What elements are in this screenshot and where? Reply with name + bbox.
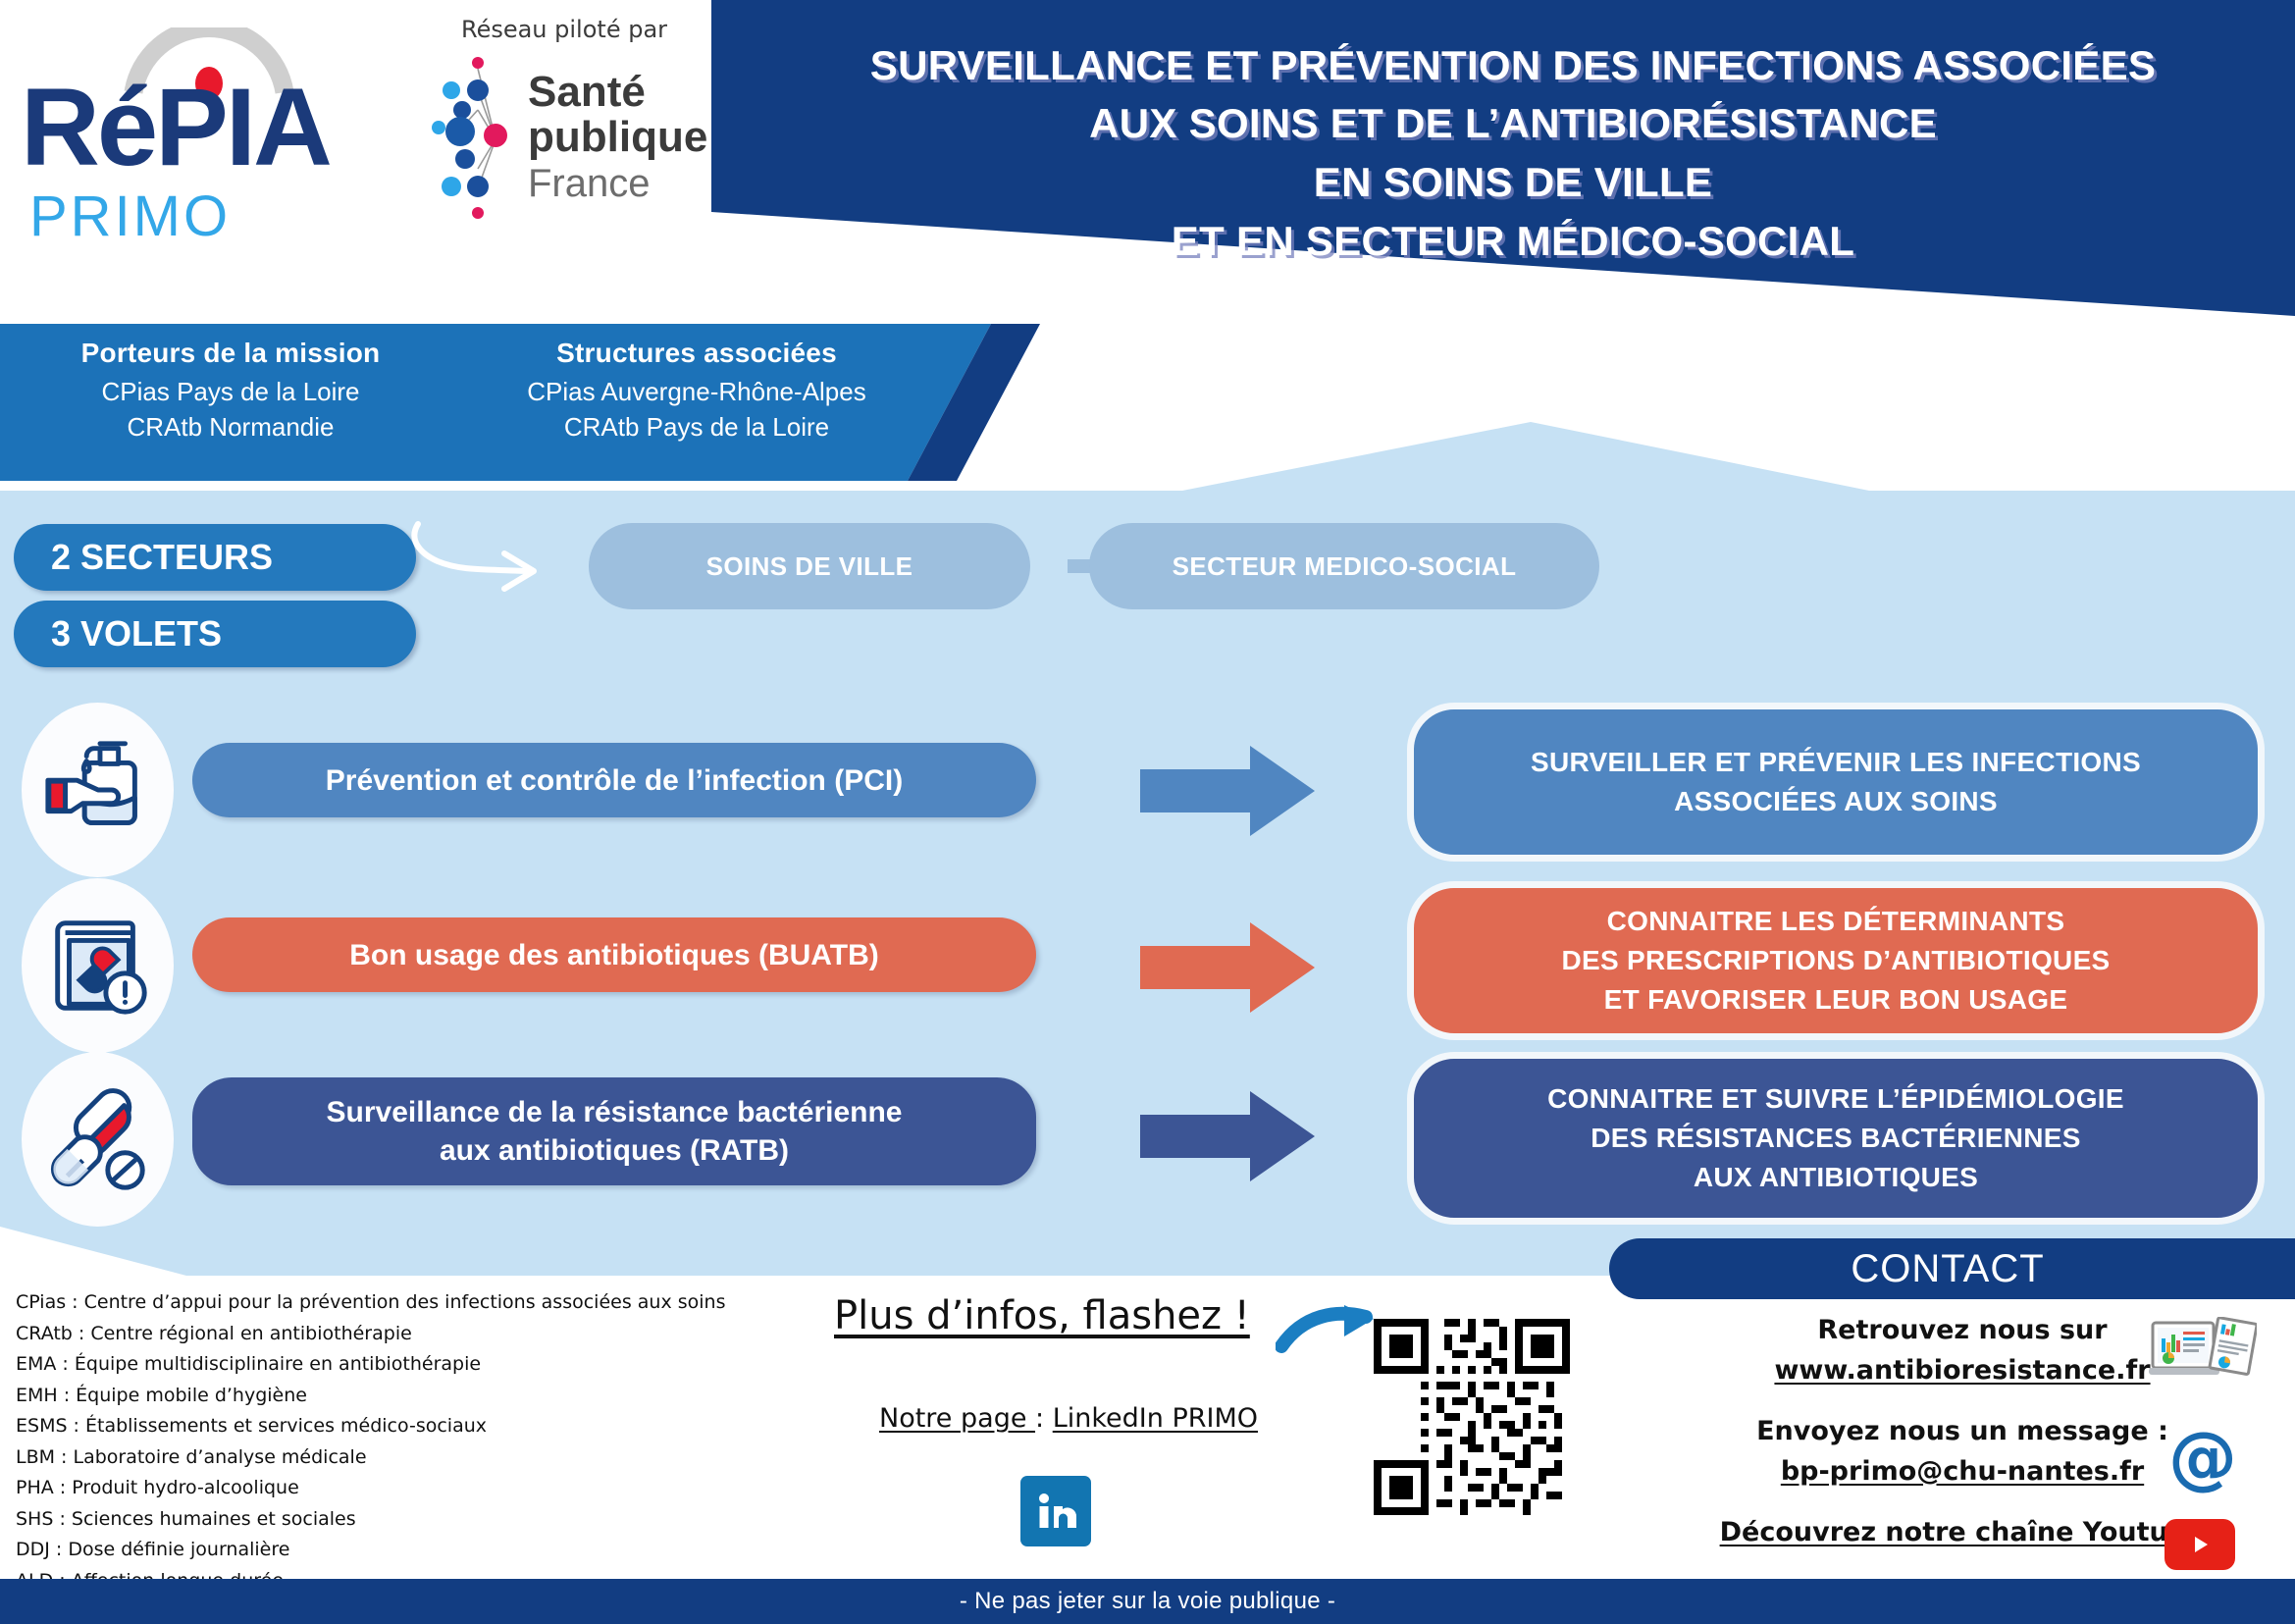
glossary-item: PHA : Produit hydro-alcoolique xyxy=(16,1473,801,1504)
glossary-item: ESMS : Établissements et services médico… xyxy=(16,1411,801,1442)
porteurs-heading: Porteurs de la mission xyxy=(0,338,461,369)
svg-text:PRIMO: PRIMO xyxy=(29,184,231,248)
objective-line: ASSOCIÉES AUX SOINS xyxy=(1531,782,2141,821)
linkedin-icon[interactable] xyxy=(1020,1476,1091,1546)
linkedin-page-link[interactable]: LinkedIn PRIMO xyxy=(1053,1403,1258,1434)
arrow-right-icon-pci xyxy=(1140,742,1317,840)
porteurs-item: CPias Pays de la Loire xyxy=(0,375,461,410)
objective-line: ET FAVORISER LEUR BON USAGE xyxy=(1561,980,2110,1020)
flashez-heading: Plus d’infos, flashez ! xyxy=(834,1293,1250,1338)
notre-page-sep: : xyxy=(1035,1403,1053,1434)
poster-root: RéPIA PRIMO Réseau piloté par xyxy=(0,0,2295,1624)
tag-2-secteurs: 2 SECTEURS xyxy=(14,524,416,591)
svg-text:RéPIA: RéPIA xyxy=(21,66,330,188)
porteurs-band: Porteurs de la mission CPias Pays de la … xyxy=(0,324,981,481)
qr-code[interactable] xyxy=(1374,1319,1570,1515)
porteurs-column: Porteurs de la mission CPias Pays de la … xyxy=(0,324,461,481)
secteur-soins-de-ville: SOINS DE VILLE xyxy=(589,523,1030,609)
youtube-play-icon[interactable] xyxy=(2165,1519,2235,1570)
glossary-item: EMH : Équipe mobile d’hygiène xyxy=(16,1381,801,1412)
volet-label-line: Surveillance de la résistance bactérienn… xyxy=(327,1093,903,1131)
secteur-medico-social: SECTEUR MEDICO-SOCIAL xyxy=(1089,523,1599,609)
reseau-pilote-label: Réseau piloté par xyxy=(422,16,706,43)
tag-3-volets: 3 VOLETS xyxy=(14,601,416,667)
svg-text:France: France xyxy=(528,162,651,205)
contact-heading: CONTACT xyxy=(1609,1238,2295,1299)
objective-pci: SURVEILLER ET PRÉVENIR LES INFECTIONS AS… xyxy=(1407,703,2265,862)
objective-line: CONNAITRE LES DÉTERMINANTS xyxy=(1561,902,2110,941)
objective-line: CONNAITRE ET SUIVRE L’ÉPIDÉMIOLOGIE xyxy=(1547,1079,2124,1119)
volet-label-line: aux antibiotiques (RATB) xyxy=(327,1131,903,1170)
structures-item: CRAtb Pays de la Loire xyxy=(461,410,932,445)
screens-dashboard-icon xyxy=(2149,1317,2257,1401)
structures-item: CPias Auvergne-Rhône-Alpes xyxy=(461,375,932,410)
glossary-item: LBM : Laboratoire d’analyse médicale xyxy=(16,1442,801,1474)
curved-arrow-to-qr-icon xyxy=(1276,1303,1383,1372)
glossary-item: CPias : Centre d’appui pour la préventio… xyxy=(16,1287,801,1319)
volet-label-pci: Prévention et contrôle de l’infection (P… xyxy=(192,743,1036,817)
objective-line: DES PRESCRIPTIONS D’ANTIBIOTIQUES xyxy=(1561,941,2110,980)
structures-heading: Structures associées xyxy=(461,338,932,369)
objective-buatb: CONNAITRE LES DÉTERMINANTS DES PRESCRIPT… xyxy=(1407,881,2265,1040)
curved-arrow-icon xyxy=(410,510,606,618)
more-info-block: Plus d’infos, flashez ! Notre page : Lin… xyxy=(824,1293,1590,1588)
pills-icon xyxy=(22,1052,174,1227)
volet-label-ratb: Surveillance de la résistance bactérienn… xyxy=(192,1077,1036,1185)
volet-label-buatb: Bon usage des antibiotiques (BUATB) xyxy=(192,917,1036,992)
svg-text:publique: publique xyxy=(528,113,706,161)
repia-logo: RéPIA PRIMO xyxy=(18,27,391,253)
sante-publique-france-block: Réseau piloté par xyxy=(422,12,706,247)
porteurs-item: CRAtb Normandie xyxy=(0,410,461,445)
glossary-item: EMA : Équipe multidisciplinaire en antib… xyxy=(16,1349,801,1381)
svg-text:Santé: Santé xyxy=(528,68,646,116)
logo-block: RéPIA PRIMO Réseau piloté par xyxy=(0,0,706,304)
glossary-list: CPias : Centre d’appui pour la préventio… xyxy=(16,1287,801,1597)
footer-notice: - Ne pas jeter sur la voie publique - xyxy=(0,1579,2295,1624)
hand-sanitizer-icon xyxy=(22,703,174,877)
glossary-item: DDJ : Dose définie journalière xyxy=(16,1535,801,1566)
glossary-item: CRAtb : Centre régional en antibiothérap… xyxy=(16,1319,801,1350)
notre-page-line: Notre page : LinkedIn PRIMO xyxy=(879,1403,1258,1434)
arrow-right-icon-ratb xyxy=(1140,1087,1317,1185)
objective-line: SURVEILLER ET PRÉVENIR LES INFECTIONS xyxy=(1531,743,2141,782)
antibiotic-book-icon xyxy=(22,878,174,1053)
objective-line: DES RÉSISTANCES BACTÉRIENNES xyxy=(1547,1119,2124,1158)
at-sign-icon: @ xyxy=(2168,1423,2237,1492)
notre-page-label: Notre page xyxy=(879,1403,1035,1434)
glossary-item: SHS : Sciences humaines et sociales xyxy=(16,1504,801,1536)
structures-column: Structures associées CPias Auvergne-Rhôn… xyxy=(461,324,932,481)
objective-line: AUX ANTIBIOTIQUES xyxy=(1547,1158,2124,1197)
sante-publique-france-logo: Santé publique France xyxy=(422,49,706,226)
objective-ratb: CONNAITRE ET SUIVRE L’ÉPIDÉMIOLOGIE DES … xyxy=(1407,1052,2265,1225)
arrow-right-icon-buatb xyxy=(1140,918,1317,1017)
